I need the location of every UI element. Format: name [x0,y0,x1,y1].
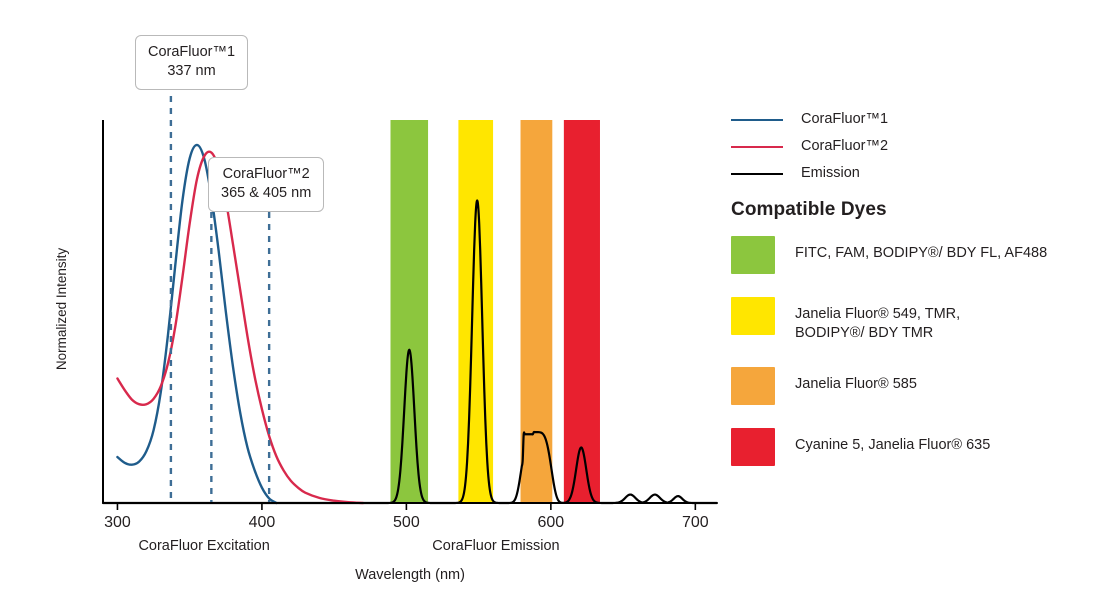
y-axis-title-text: Normalized Intensity [54,248,69,370]
compatible-dyes-list: FITC, FAM, BODIPY®/ BDY FL, AF488 Janeli… [731,236,1110,489]
callout-corafluor1: CoraFluor™1 337 nm [135,35,248,90]
compatible-dyes-title: Compatible Dyes [731,199,887,221]
x-axis-title: Wavelength (nm) [310,566,510,584]
dye-label-orange: Janelia Fluor® 585 [795,367,917,394]
x-tick-label-500: 500 [393,514,420,531]
plot-area: 300400500600700CoraFluor ExcitationCoraF… [0,0,740,612]
region-label-1: CoraFluor Emission [432,538,559,554]
dye-item-green: FITC, FAM, BODIPY®/ BDY FL, AF488 [731,236,1110,274]
x-tick-label-700: 700 [682,514,709,531]
y-axis-title: Normalized Intensity [53,229,71,389]
region-label-0: CoraFluor Excitation [138,538,269,554]
legend-item-corafluor1: CoraFluor™1 [731,106,1110,133]
legend-line-swatch-emission [731,173,783,175]
legend-line-swatch-corafluor2 [731,146,783,148]
dye-color-swatch-yellow [731,297,775,335]
dye-item-orange: Janelia Fluor® 585 [731,367,1110,405]
dye-label-green: FITC, FAM, BODIPY®/ BDY FL, AF488 [795,236,1047,263]
emission-band-1 [458,120,493,503]
legend-item-emission: Emission [731,160,1110,187]
dye-label-red-line1: Cyanine 5, Janelia Fluor® 635 [795,437,990,453]
dye-label-yellow-line1: Janelia Fluor® 549, TMR, [795,306,960,322]
legend-line-swatch-corafluor1 [731,119,783,121]
dye-color-swatch-red [731,428,775,466]
x-tick-label-300: 300 [104,514,131,531]
callout-corafluor1-line2: 337 nm [148,62,235,81]
legend-item-corafluor2: CoraFluor™2 [731,133,1110,160]
legend-label-corafluor1: CoraFluor™1 [801,112,888,127]
callout-corafluor2-line1: CoraFluor™2 [221,165,311,184]
x-tick-label-600: 600 [538,514,565,531]
x-axis-title-text: Wavelength (nm) [355,567,465,583]
dye-label-orange-line1: Janelia Fluor® 585 [795,376,917,392]
dye-color-swatch-green [731,236,775,274]
emission-band-3 [564,120,600,503]
legend: CoraFluor™1 CoraFluor™2 Emission [731,106,1110,187]
chart-root: 300400500600700CoraFluor ExcitationCoraF… [0,0,1110,612]
x-tick-label-400: 400 [249,514,276,531]
callout-corafluor1-line1: CoraFluor™1 [148,43,235,62]
dye-item-yellow: Janelia Fluor® 549, TMR, BODIPY®/ BDY TM… [731,297,1110,344]
spectra-plot: 300400500600700CoraFluor ExcitationCoraF… [0,0,740,612]
legend-label-corafluor2: CoraFluor™2 [801,139,888,154]
legend-label-emission: Emission [801,166,860,181]
dye-label-green-line1: FITC, FAM, BODIPY®/ BDY FL, AF488 [795,245,1047,261]
dye-label-yellow-line2: BODIPY®/ BDY TMR [795,324,960,343]
dye-item-red: Cyanine 5, Janelia Fluor® 635 [731,428,1110,466]
emission-band-0 [390,120,428,503]
dye-label-yellow: Janelia Fluor® 549, TMR, BODIPY®/ BDY TM… [795,297,960,344]
dye-label-red: Cyanine 5, Janelia Fluor® 635 [795,428,990,455]
callout-corafluor2-line2: 365 & 405 nm [221,184,311,203]
dye-color-swatch-orange [731,367,775,405]
callout-corafluor2: CoraFluor™2 365 & 405 nm [208,157,324,212]
